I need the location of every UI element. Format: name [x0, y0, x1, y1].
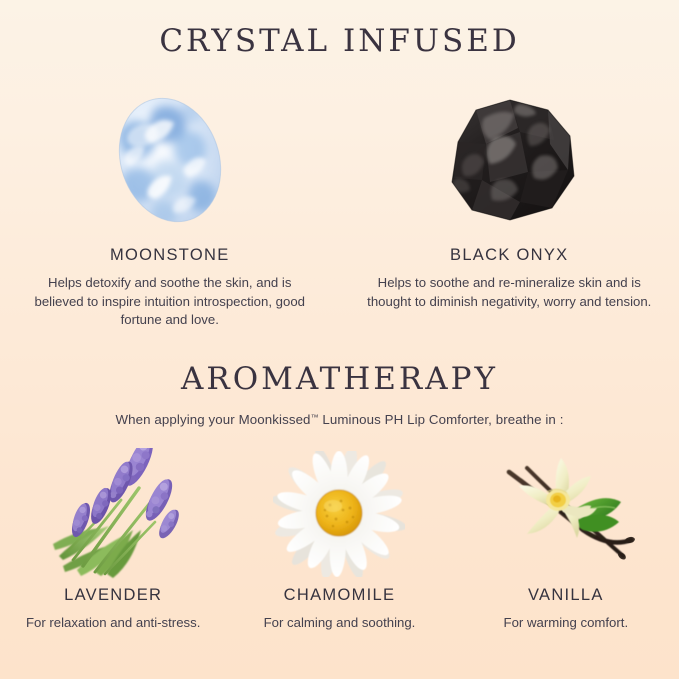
crystal-item-moonstone: MOONSTONE Helps detoxify and soothe the … — [0, 80, 340, 335]
crystal-description-black-onyx: Helps to soothe and re-mineralize skin a… — [367, 274, 652, 311]
aromatherapy-subtitle-after: Luminous PH Lip Comforter, breathe in : — [319, 412, 564, 427]
aroma-item-vanilla: VANILLA For warming comfort. — [453, 444, 679, 654]
trademark-symbol: ™ — [311, 413, 319, 422]
crystal-item-black-onyx: BLACK ONYX Helps to soothe and re-minera… — [340, 80, 679, 335]
product-info-graphic: CRYSTAL INFUSED — [0, 0, 679, 679]
aroma-description-vanilla: For warming comfort. — [504, 615, 629, 630]
aroma-description-lavender: For relaxation and anti-stress. — [26, 615, 200, 630]
aroma-name-chamomile: CHAMOMILE — [284, 586, 396, 605]
vanilla-orchid-and-pods-icon — [491, 444, 641, 584]
aromatherapy-subtitle: When applying your Moonkissed™ Luminous … — [0, 412, 679, 427]
black-onyx-rough-stone-icon — [424, 80, 594, 240]
aromatherapy-heading: AROMATHERAPY — [0, 364, 679, 395]
aroma-name-vanilla: VANILLA — [528, 586, 604, 605]
aroma-item-lavender: LAVENDER For relaxation and anti-stress. — [0, 444, 226, 654]
moonstone-cabochon-icon — [100, 80, 240, 240]
crystal-list: MOONSTONE Helps detoxify and soothe the … — [0, 80, 679, 335]
crystal-name-moonstone: MOONSTONE — [110, 246, 230, 265]
lavender-sprig-icon — [43, 444, 183, 584]
crystal-description-moonstone: Helps detoxify and soothe the skin, and … — [27, 274, 312, 330]
crystal-infused-heading: CRYSTAL INFUSED — [0, 26, 679, 57]
crystal-name-black-onyx: BLACK ONYX — [450, 246, 568, 265]
aroma-item-chamomile: CHAMOMILE For calming and soothing. — [226, 444, 452, 654]
aroma-description-chamomile: For calming and soothing. — [264, 615, 416, 630]
aroma-name-lavender: LAVENDER — [64, 586, 162, 605]
aromatherapy-subtitle-before: When applying your Moonkissed — [115, 412, 310, 427]
chamomile-daisy-flower-icon — [273, 444, 405, 584]
aromatherapy-list: LAVENDER For relaxation and anti-stress. — [0, 444, 679, 654]
